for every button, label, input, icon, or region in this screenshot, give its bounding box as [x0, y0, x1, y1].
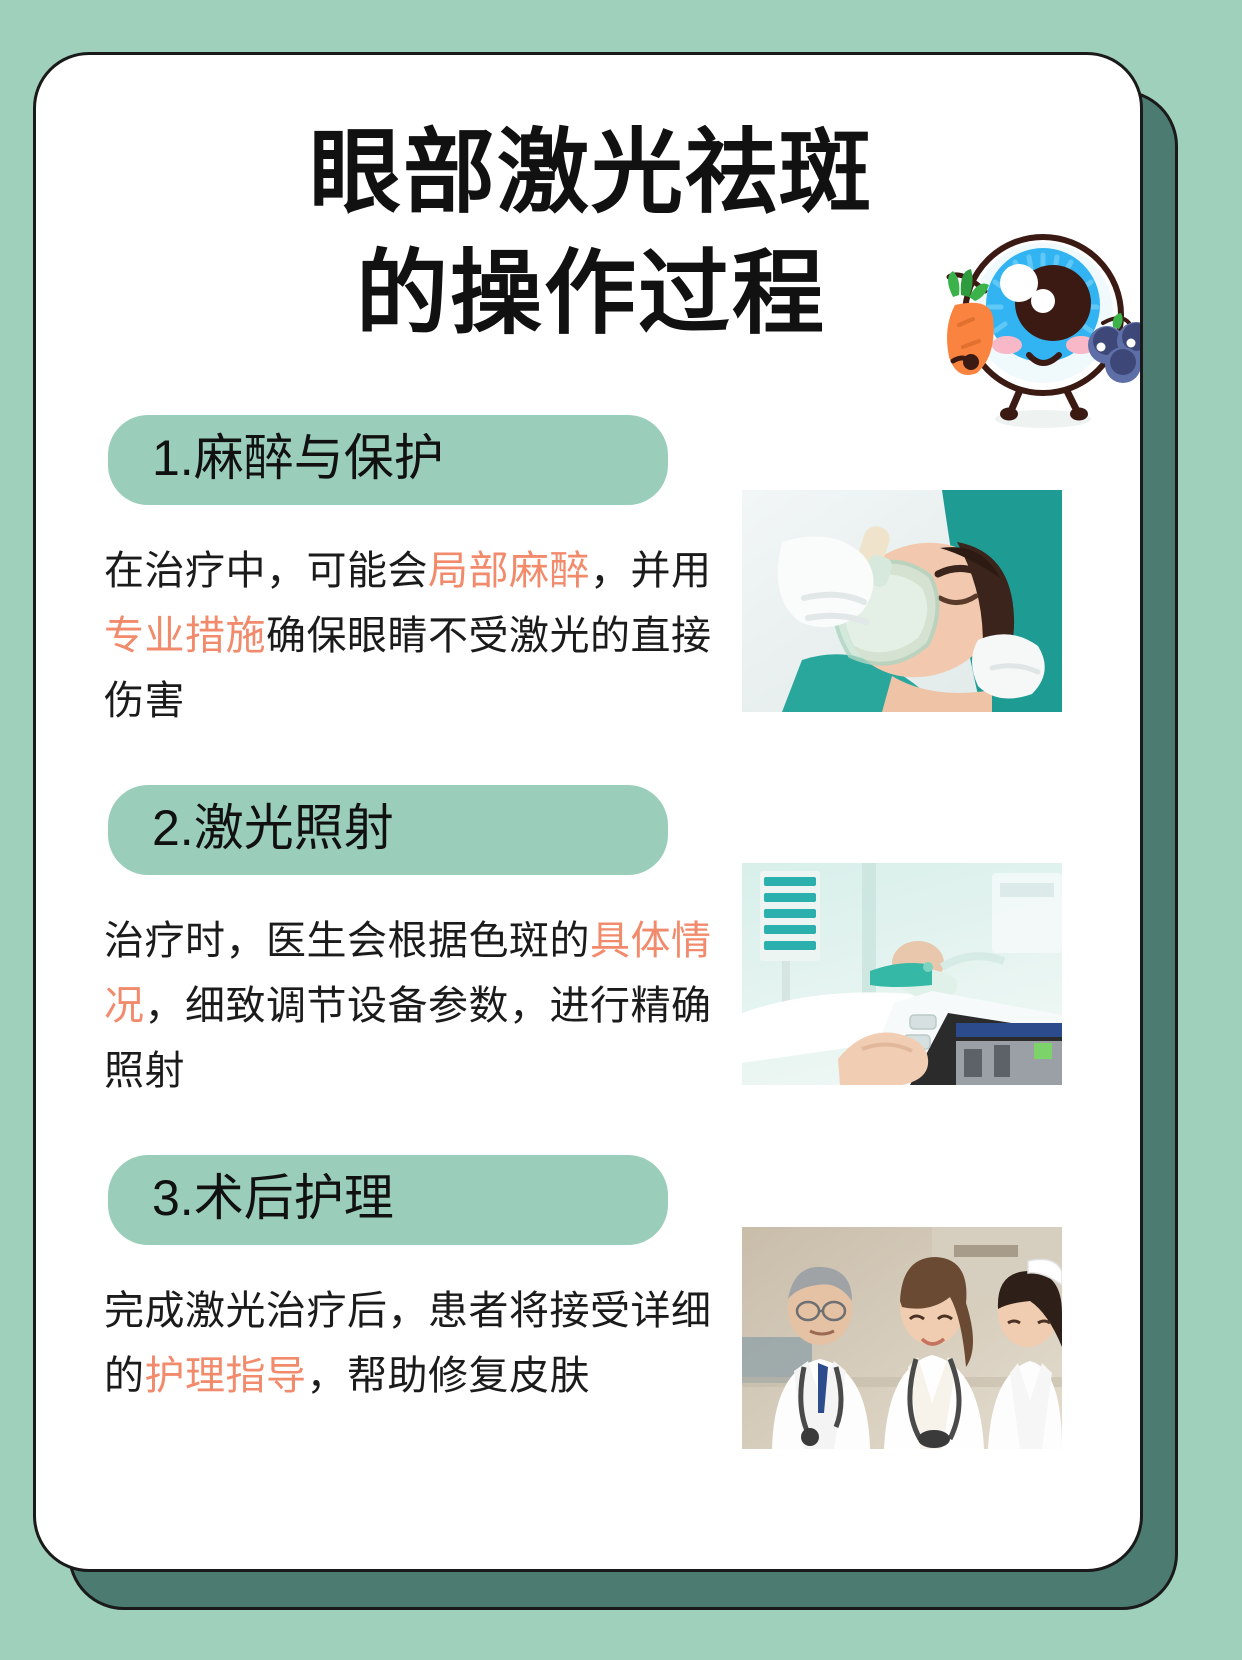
- section-3-image: [742, 1227, 1062, 1449]
- section-2: 2.激光照射 治疗时，医生会根据色斑的具体情况，细致调节设备参数，进行精确照射: [36, 785, 1143, 1103]
- section-1-heading-pill: 1.麻醉与保护: [108, 415, 668, 505]
- body-text-segment: ，细致调节设备参数，进行精确照射: [104, 984, 712, 1093]
- section-2-body: 治疗时，医生会根据色斑的具体情况，细致调节设备参数，进行精确照射: [104, 909, 724, 1103]
- section-3: 3.术后护理 完成激光治疗后，患者将接受详细的护理指导，帮助修复皮肤: [36, 1155, 1143, 1409]
- section-1-image: [742, 490, 1062, 712]
- section-3-body: 完成激光治疗后，患者将接受详细的护理指导，帮助修复皮肤: [104, 1279, 724, 1409]
- eyeball-mascot-icon: [931, 205, 1143, 435]
- carrot-icon: [947, 269, 994, 375]
- highlighted-phrase: 护理指导: [145, 1354, 307, 1398]
- highlighted-phrase: 专业措施: [104, 614, 266, 658]
- section-2-image: [742, 863, 1062, 1085]
- section-2-heading: 2.激光照射: [152, 799, 610, 857]
- section-3-heading: 3.术后护理: [152, 1169, 610, 1227]
- section-1-body: 在治疗中，可能会局部麻醉，并用专业措施确保眼睛不受激光的直接伤害: [104, 539, 724, 733]
- body-text-segment: ，帮助修复皮肤: [307, 1354, 591, 1398]
- highlighted-phrase: 局部麻醉: [428, 549, 590, 593]
- infographic-card: 眼部激光祛斑 的操作过程: [33, 52, 1143, 1572]
- body-text-segment: 治疗时，医生会根据色斑的: [104, 919, 590, 963]
- section-1-heading: 1.麻醉与保护: [152, 429, 610, 487]
- body-text-segment: ，并用: [590, 549, 712, 593]
- body-text-segment: 在治疗中，可能会: [104, 549, 428, 593]
- section-1: 1.麻醉与保护 在治疗中，可能会局部麻醉，并用专业措施确保眼睛不受激光的直接伤害: [36, 415, 1143, 733]
- section-2-heading-pill: 2.激光照射: [108, 785, 668, 875]
- section-3-heading-pill: 3.术后护理: [108, 1155, 668, 1245]
